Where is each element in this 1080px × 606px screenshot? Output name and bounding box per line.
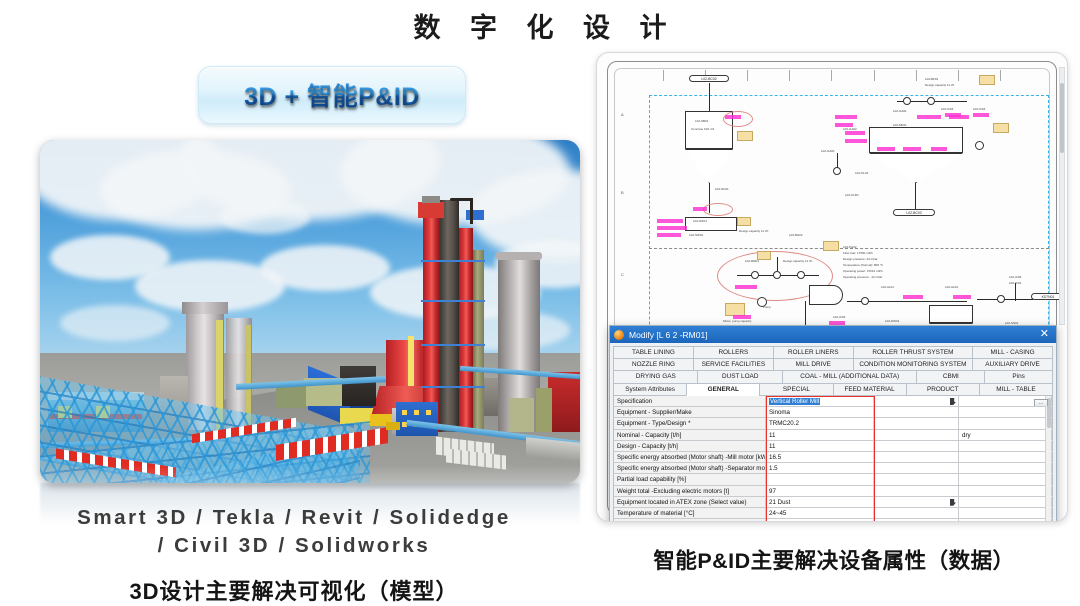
tab-product[interactable]: PRODUCT	[906, 384, 979, 397]
attribute-col-d[interactable]: dry	[959, 430, 1052, 440]
pid-row-mark-c: C	[621, 272, 624, 277]
attribute-value[interactable]: 11	[766, 430, 874, 440]
pid-tag-silo-top: L02-BC02	[689, 75, 729, 82]
attribute-col-d[interactable]	[959, 474, 1052, 484]
attribute-col-d[interactable]	[959, 418, 1052, 428]
attribute-col-c[interactable]	[874, 441, 959, 451]
attribute-label: Specific energy absorbed (Motor shaft) -…	[614, 452, 766, 462]
attribute-label: Nominal - Capacity [t/h]	[614, 430, 766, 440]
pid-row-mark-a: A	[621, 112, 624, 117]
table-row[interactable]: Specific energy absorbed (Motor shaft) -…	[614, 452, 1052, 463]
tab-service-facilities[interactable]: SERVICE FACILITIES	[693, 359, 773, 372]
tab-coal-mill-additional-data[interactable]: COAL - MILL (ADDITIONAL DATA)	[782, 371, 917, 384]
tab-row-2: NOZZLE RING SERVICE FACILITIES MILL DRIV…	[613, 359, 1053, 372]
attribute-value[interactable]: TRMC20.2	[766, 418, 874, 428]
attribute-label: Temperature of material [°C]	[614, 508, 766, 518]
attribute-label: Weight total -Excluding electric motors …	[614, 486, 766, 496]
table-row[interactable]: Specification Vertical Roller Mill ...	[614, 396, 1052, 407]
tab-cbmi[interactable]: CBMI	[916, 371, 984, 384]
attribute-col-d[interactable]	[959, 486, 1052, 496]
attribute-value[interactable]: 16.5	[766, 452, 874, 462]
attribute-value[interactable]: 11	[766, 441, 874, 451]
dialog-title: Modify [L 6 2 -RM01]	[629, 330, 1037, 340]
attribute-col-c[interactable]	[874, 418, 959, 428]
table-row[interactable]: Type of feeder * Screw feeder	[614, 519, 1052, 522]
tab-row-1: TABLE LINING ROLLERS ROLLER LINERS ROLLE…	[613, 346, 1053, 359]
right-panel: A B C D L02-BC02 L02-SB01 Concrete 100 m…	[588, 44, 1080, 606]
table-row[interactable]: Equipment - Supplier/Make Sinoma	[614, 407, 1052, 418]
attribute-value[interactable]	[766, 474, 874, 484]
table-row[interactable]: Nominal - Capacity [t/h] 11 dry	[614, 430, 1052, 441]
attributes-grid: Specification Vertical Roller Mill ... E…	[613, 396, 1053, 522]
tab-mill-casing[interactable]: MILL - CASING	[972, 346, 1053, 359]
tab-strip: TABLE LINING ROLLERS ROLLER LINERS ROLLE…	[613, 346, 1053, 396]
tab-mill-table[interactable]: MILL - TABLE	[979, 384, 1053, 397]
tool-list: Smart 3D / Tekla / Revit / Solidedge / C…	[0, 504, 588, 560]
attribute-value-text: Vertical Roller Mill	[769, 398, 820, 405]
table-row[interactable]: Temperature of material [°C] 24~45	[614, 508, 1052, 519]
table-row[interactable]: Design - Capacity [t/h] 11	[614, 441, 1052, 452]
right-caption: 智能P&ID主要解决设备属性（数据）	[588, 544, 1080, 575]
table-row[interactable]: Equipment - Type/Design * TRMC20.2	[614, 418, 1052, 429]
tab-drying-gas[interactable]: DRYING GAS	[613, 371, 697, 384]
render-canvas	[40, 140, 580, 483]
attribute-value[interactable]: Screw feeder	[766, 519, 874, 522]
attribute-col-d[interactable]: ...	[959, 396, 1052, 406]
badge-label: 3D + 智能P&ID	[244, 77, 420, 113]
attribute-label: Partial load capability [%]	[614, 474, 766, 484]
attribute-col-d[interactable]	[959, 463, 1052, 473]
table-row[interactable]: Equipment located in ATEX zone (Select v…	[614, 497, 1052, 508]
attribute-col-d[interactable]	[959, 407, 1052, 417]
table-row[interactable]: Weight total -Excluding electric motors …	[614, 486, 1052, 497]
attribute-value[interactable]: 97	[766, 486, 874, 496]
left-panel: 3D + 智能P&ID	[0, 52, 588, 606]
table-row[interactable]: Partial load capability [%]	[614, 474, 1052, 485]
attribute-value[interactable]: 21 Dust	[766, 497, 874, 507]
tab-dust-load[interactable]: DUST LOAD	[697, 371, 781, 384]
attribute-col-c[interactable]	[874, 519, 959, 522]
close-icon[interactable]: ✕	[1037, 329, 1052, 340]
attribute-label: Equipment - Supplier/Make	[614, 407, 766, 417]
attribute-col-c[interactable]	[874, 508, 959, 518]
tab-special[interactable]: SPECIAL	[759, 384, 832, 397]
tab-row-3: DRYING GAS DUST LOAD COAL - MILL (ADDITI…	[613, 371, 1053, 384]
pid-drawing-card: A B C D L02-BC02 L02-SB01 Concrete 100 m…	[596, 52, 1068, 522]
dialog-body: TABLE LINING ROLLERS ROLLER LINERS ROLLE…	[610, 343, 1056, 522]
attribute-label: Design - Capacity [t/h]	[614, 441, 766, 451]
pid-tag-bc03: L02-BC03	[893, 209, 935, 216]
tab-row-4: System Attributes GENERAL SPECIAL FEED M…	[613, 384, 1053, 397]
table-row[interactable]: Specific energy absorbed (Motor shaft) -…	[614, 463, 1052, 474]
pid-vessel-4	[929, 305, 973, 323]
tab-rollers[interactable]: ROLLERS	[693, 346, 773, 359]
tab-auxiliary-drive[interactable]: AUXILIARY DRIVE	[972, 359, 1053, 372]
pid-scrollbar-thumb[interactable]	[1060, 83, 1064, 153]
attribute-col-d[interactable]	[959, 441, 1052, 451]
tab-nozzle-ring[interactable]: NOZZLE RING	[613, 359, 693, 372]
badge-3d-pid: 3D + 智能P&ID	[198, 66, 466, 124]
left-caption: 3D设计主要解决可视化（模型）	[0, 574, 588, 606]
attribute-col-c[interactable]	[874, 463, 959, 473]
attribute-label: Specific energy absorbed (Motor shaft) -…	[614, 463, 766, 473]
tab-roller-liners[interactable]: ROLLER LINERS	[773, 346, 853, 359]
tab-condition-monitoring-system[interactable]: CONDITION MONITORING SYSTEM	[853, 359, 972, 372]
modify-dialog: Modify [L 6 2 -RM01] ✕ TABLE LINING ROLL…	[609, 325, 1057, 522]
attribute-value[interactable]: 1.5	[766, 463, 874, 473]
attribute-label: Type of feeder *	[614, 519, 766, 522]
tab-general[interactable]: GENERAL	[686, 384, 759, 397]
tab-roller-thrust-system[interactable]: ROLLER THRUST SYSTEM	[853, 346, 972, 359]
plant-3d-render	[40, 140, 580, 483]
attribute-col-c[interactable]	[874, 497, 959, 507]
attribute-col-d[interactable]	[959, 519, 1052, 522]
attribute-col-c[interactable]	[874, 396, 959, 406]
attribute-col-d[interactable]	[959, 497, 1052, 507]
attribute-col-d[interactable]	[959, 508, 1052, 518]
dialog-titlebar: Modify [L 6 2 -RM01] ✕	[610, 326, 1056, 343]
attribute-col-c[interactable]	[874, 486, 959, 496]
attribute-col-c[interactable]	[874, 474, 959, 484]
page-title: 数 字 化 设 计	[0, 6, 1080, 45]
attribute-col-c[interactable]	[874, 452, 959, 462]
tab-system-attributes[interactable]: System Attributes	[613, 384, 686, 397]
attribute-value[interactable]: Vertical Roller Mill	[766, 396, 874, 406]
tab-mill-drive[interactable]: MILL DRIVE	[773, 359, 853, 372]
pid-row-mark-b: B	[621, 190, 624, 195]
chevron-down-icon[interactable]	[950, 499, 956, 506]
tab-pins[interactable]: Pins	[984, 371, 1053, 384]
pid-note-1	[737, 131, 753, 141]
chevron-down-icon[interactable]	[950, 398, 956, 405]
pid-annotation-circle-2	[703, 203, 733, 216]
tab-table-lining[interactable]: TABLE LINING	[613, 346, 693, 359]
browse-ellipsis-button[interactable]: ...	[1034, 399, 1048, 407]
attribute-value[interactable]: 24~45	[766, 508, 874, 518]
attribute-label: Equipment located in ATEX zone (Select v…	[614, 497, 766, 507]
attribute-col-c[interactable]	[874, 407, 959, 417]
attribute-label: Equipment - Type/Design *	[614, 418, 766, 428]
tool-list-line1: Smart 3D / Tekla / Revit / Solidedge	[0, 504, 588, 532]
attribute-col-c[interactable]	[874, 430, 959, 440]
attribute-col-d[interactable]	[959, 452, 1052, 462]
pid-annotation-circle-1	[723, 111, 753, 127]
attribute-value[interactable]: Sinoma	[766, 407, 874, 417]
app-icon	[614, 330, 624, 340]
tab-feed-material[interactable]: FEED MATERIAL	[833, 384, 906, 397]
tool-list-line2: / Civil 3D / Solidworks	[0, 532, 588, 560]
attribute-label: Specification	[614, 396, 766, 406]
